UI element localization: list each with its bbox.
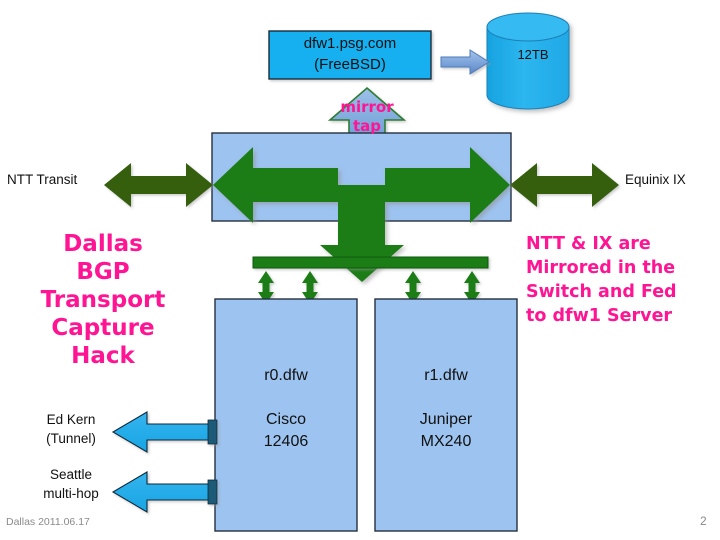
- uplink-label-ed-kern: Ed Kern(Tunnel): [26, 410, 116, 448]
- equinix-ix-label: Equinix IX: [625, 172, 686, 187]
- r0-vendor: Cisco: [266, 411, 306, 428]
- note-line-4: to dfw1 Server: [526, 306, 672, 326]
- mirroring-note-callout: NTT & IX areMirrored in theSwitch and Fe…: [526, 232, 718, 328]
- slide-page-number: 2: [700, 514, 707, 528]
- r1-hostname: r1.dfw: [424, 367, 468, 384]
- ntt-transit-arrow: [104, 163, 213, 207]
- ed-kern-arrow: [113, 412, 217, 452]
- note-line-2: Mirrored in the: [526, 258, 675, 278]
- server-to-storage-arrow: [441, 50, 489, 74]
- ed-kern-line2: (Tunnel): [46, 431, 96, 446]
- slide-canvas: dfw1.psg.com(FreeBSD) 12TB mirrortap NTT…: [0, 0, 720, 540]
- title-line-1: Dallas: [63, 231, 143, 257]
- seattle-line2: multi-hop: [43, 486, 99, 501]
- mirror-tap-line1: mirror: [340, 98, 393, 116]
- server-hostname: dfw1.psg.com: [304, 35, 397, 52]
- slide-footer-text: Dallas 2011.06.17: [6, 516, 90, 528]
- title-line-4: Capture: [51, 315, 154, 341]
- mirror-tap-line2: tap: [353, 117, 381, 135]
- title-line-3: Transport: [41, 287, 166, 313]
- server-os: (FreeBSD): [314, 56, 386, 73]
- server-box-label: dfw1.psg.com(FreeBSD): [272, 33, 428, 75]
- title-line-2: BGP: [76, 259, 129, 285]
- router-label-r1: r1.dfwJuniperMX240: [378, 365, 514, 453]
- ed-kern-line1: Ed Kern: [47, 412, 96, 427]
- ntt-transit-label: NTT Transit: [7, 172, 77, 187]
- r0-hostname: r0.dfw: [264, 367, 308, 384]
- note-line-3: Switch and Fed: [526, 282, 677, 302]
- r1-model: MX240: [421, 433, 472, 450]
- storage-capacity-label: 12TB: [490, 47, 576, 62]
- uplink-label-seattle: Seattlemulti-hop: [26, 465, 116, 503]
- equinix-ix-arrow: [510, 163, 619, 207]
- slide-title-callout: DallasBGPTransportCaptureHack: [8, 230, 198, 370]
- note-line-1: NTT & IX are: [526, 234, 651, 254]
- title-line-5: Hack: [71, 343, 135, 369]
- green-bus-bar: [253, 257, 488, 268]
- r1-vendor: Juniper: [420, 411, 472, 428]
- seattle-line1: Seattle: [50, 467, 92, 482]
- r0-model: 12406: [264, 433, 309, 450]
- seattle-arrow: [113, 472, 217, 512]
- router-label-r0: r0.dfwCisco12406: [218, 365, 354, 453]
- mirror-tap-label: mirrortap: [330, 98, 404, 136]
